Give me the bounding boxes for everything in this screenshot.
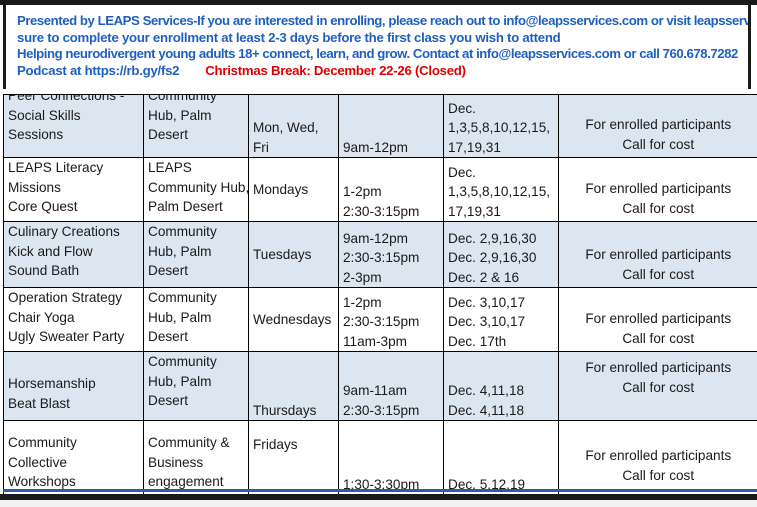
location-line: Hub, Palm [148,242,244,262]
cell-dates: Dec. 3,10,17 Dec. 3,10,17 Dec. 17th [444,288,559,352]
time-line: 2:30-3:15pm [343,248,439,268]
class-schedule-table: Peer Connections - Social Skills Session… [3,94,757,495]
program-line: Peer Connections - [8,95,139,106]
location-line: Desert [148,261,244,281]
date-line: 17,19,31 [448,202,554,222]
date-line: Dec. 2,9,16,30 [448,229,554,249]
program-line: Collective [8,453,139,473]
cost-line: Call for cost [563,329,754,349]
cell-location: LEAPS Community Hub, Palm Desert [144,222,249,288]
table-row: LEAPS Literacy Missions Core Quest LEAPS… [4,158,757,222]
cost-line: For enrolled participants [563,245,754,265]
time-line: 2-3pm [343,268,439,288]
cell-cost: For enrolled participants Call for cost [559,222,757,288]
cost-line: Call for cost [563,199,754,219]
cell-location: Community & Business engagement [144,421,249,495]
location-line: Desert [148,327,244,347]
banner-line-4: Podcast at https://rb.gy/fs2Christmas Br… [17,63,738,80]
date-line: Dec. 2 & 16 [448,268,554,288]
table-row: Culinary Creations Kick and Flow Sound B… [4,222,757,288]
cost-line: For enrolled participants [563,115,754,135]
cell-time: 9am-12pm 2:30-3:15pm 2-3pm [339,222,444,288]
cell-time: 1-2pm 2:30-3:15pm [339,158,444,222]
announcement-banner: Presented by LEAPS Services-If you are i… [3,5,751,89]
cell-time: 9am-11am 2:30-3:15pm [339,352,444,421]
program-line: Horsemanship [8,374,139,394]
time-line: 1-2pm [343,182,439,202]
location-line: Hub, Palm [148,308,244,328]
cost-line: Call for cost [563,378,754,398]
program-line: Missions [8,178,139,198]
date-line: Dec. 17th [448,332,554,352]
cost-line: Call for cost [563,466,754,486]
cell-day: Wednesdays [249,288,339,352]
christmas-break-notice: Christmas Break: December 22-26 (Closed) [205,63,465,78]
date-line: 1,3,5,8,10,12,15, [448,118,554,138]
cell-dates: Dec. 5,12,19 [444,421,559,495]
time-line: 9am-11am [343,381,439,401]
cell-cost: For enrolled participants Call for cost [559,95,757,158]
date-line: Dec. 4,11,18 [448,381,554,401]
table-row: Peer Connections - Social Skills Session… [4,95,757,158]
location-line: Hub, Palm [148,106,244,126]
program-line: Culinary Creations [8,222,139,242]
program-line: LEAPS Literacy [8,158,139,178]
time-line: 9am-12pm [343,138,439,158]
banner-line-3: Helping neurodivergent young adults 18+ … [17,46,738,63]
cell-day: Tuesdays [249,222,339,288]
location-line: Business [148,453,244,473]
location-line: Community [148,288,244,308]
cell-dates: Dec. 1,3,5,8,10,12,15, 17,19,31 [444,158,559,222]
cell-cost: For enrolled participants Call for cost [559,288,757,352]
cell-program: Peer Connections - Social Skills Session… [4,95,144,158]
cost-line: For enrolled participants [563,446,754,466]
cell-dates: Dec. 2,9,16,30 Dec. 2,9,16,30 Dec. 2 & 1… [444,222,559,288]
cell-dates: Dec. 4,11,18 Dec. 4,11,18 [444,352,559,421]
date-line: Dec. 3,10,17 [448,312,554,332]
banner-line-1: Presented by LEAPS Services-If you are i… [17,13,738,30]
cell-dates: Dec. 1,3,5,8,10,12,15, 17,19,31 [444,95,559,158]
table-row: Horsemanship Beat Blast LEAPS Community … [4,352,757,421]
bottom-accent-rule [3,489,757,492]
time-line: 2:30-3:15pm [343,202,439,222]
cell-program: Community Collective Workshops [4,421,144,495]
cell-time: 9am-12pm [339,95,444,158]
cell-day: Thursdays [249,352,339,421]
program-line: Chair Yoga [8,308,139,328]
program-line: Social Skills [8,106,139,126]
time-line: 2:30-3:15pm [343,312,439,332]
cell-location: LEAPS Community Hub, Palm Desert [144,158,249,222]
program-line: Sessions [8,125,139,145]
cost-line: For enrolled participants [563,179,754,199]
location-line: LEAPS [148,158,244,178]
location-line: Desert [148,125,244,145]
cell-cost: For enrolled participants Call for cost [559,158,757,222]
cell-program: Culinary Creations Kick and Flow Sound B… [4,222,144,288]
location-line: Community [148,95,244,106]
location-line: Community [148,222,244,242]
page-edge-strip [0,500,757,507]
program-line: Sound Bath [8,261,139,281]
cell-day: Fridays [249,421,339,495]
date-line: Dec. [448,99,554,119]
program-line: Operation Strategy [8,288,139,308]
banner-line-2: sure to complete your enrollment at leas… [17,30,738,47]
cell-location: LEAPS Community Hub, Palm Desert [144,352,249,421]
location-line: Community & [148,433,244,453]
date-line: Dec. [448,163,554,183]
time-line: 11am-3pm [343,332,439,352]
location-line: Hub, Palm [148,372,244,392]
location-line: Community [148,352,244,372]
time-line: 1-2pm [343,293,439,313]
cell-time: 1:30-3:30pm [339,421,444,495]
program-line: Community [8,433,139,453]
cell-location: Community Hub, Palm Desert [144,95,249,158]
location-line: Desert [148,391,244,411]
time-line: 9am-12pm [343,229,439,249]
cell-day: Mon, Wed, Fri [249,95,339,158]
date-line: 17,19,31 [448,138,554,158]
cost-line: Call for cost [563,135,754,155]
program-line: Kick and Flow [8,242,139,262]
date-line: Dec. 3,10,17 [448,293,554,313]
program-line: Core Quest [8,197,139,217]
cost-line: For enrolled participants [563,309,754,329]
cost-line: For enrolled participants [563,358,754,378]
location-line: Palm Desert [148,197,244,217]
time-line: 2:30-3:15pm [343,401,439,421]
date-line: Dec. 2,9,16,30 [448,248,554,268]
cell-location: LEAPS Community Hub, Palm Desert [144,288,249,352]
cell-time: 1-2pm 2:30-3:15pm 11am-3pm [339,288,444,352]
cell-cost: For enrolled participants Call for cost [559,421,757,495]
cell-cost: For enrolled participants Call for cost [559,352,757,421]
table-row: Operation Strategy Chair Yoga Ugly Sweat… [4,288,757,352]
location-line: Community Hub, [148,178,244,198]
cell-program: Horsemanship Beat Blast [4,352,144,421]
table-row: Community Collective Workshops Community… [4,421,757,495]
program-line: Beat Blast [8,394,139,414]
cost-line: Call for cost [563,265,754,285]
date-line: 1,3,5,8,10,12,15, [448,182,554,202]
program-line: Ugly Sweater Party [8,327,139,347]
podcast-link-text[interactable]: Podcast at https://rb.gy/fs2 [17,63,179,78]
cell-day: Mondays [249,158,339,222]
cell-program: Operation Strategy Chair Yoga Ugly Sweat… [4,288,144,352]
date-line: Dec. 4,11,18 [448,401,554,421]
cell-program: LEAPS Literacy Missions Core Quest [4,158,144,222]
